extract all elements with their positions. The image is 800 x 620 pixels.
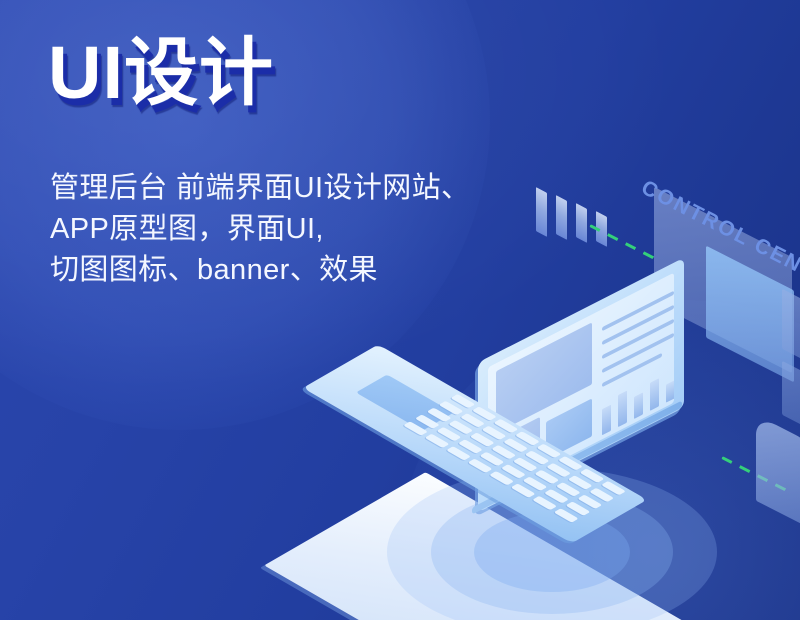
laptop-illustration bbox=[330, 300, 730, 600]
screen-chart-bar-3 bbox=[634, 392, 643, 419]
subtitle-block: 管理后台 前端界面UI设计网站、 APP原型图，界面UI, 切图图标、banne… bbox=[50, 168, 470, 291]
iso-panel-right-lower bbox=[782, 361, 800, 437]
iso-panel-far-right bbox=[756, 415, 800, 532]
iso-bar-2 bbox=[556, 195, 567, 240]
page-title: UI设计 bbox=[48, 36, 274, 110]
subtitle-line-3: 切图图标、banner、效果 bbox=[50, 250, 470, 291]
iso-bar-1 bbox=[536, 187, 547, 237]
ui-design-banner: UI设计 管理后台 前端界面UI设计网站、 APP原型图，界面UI, 切图图标、… bbox=[0, 0, 800, 620]
screen-chart-bar-1 bbox=[602, 405, 611, 436]
screen-chart-bar-2 bbox=[618, 391, 627, 428]
screen-chart-bar-5 bbox=[666, 380, 674, 403]
subtitle-line-2: APP原型图，界面UI, bbox=[50, 209, 470, 250]
iso-bar-3 bbox=[576, 203, 587, 243]
iso-bars-decoration bbox=[536, 186, 646, 250]
screen-chart-bar-4 bbox=[650, 378, 659, 411]
subtitle-line-1: 管理后台 前端界面UI设计网站、 bbox=[50, 168, 470, 209]
